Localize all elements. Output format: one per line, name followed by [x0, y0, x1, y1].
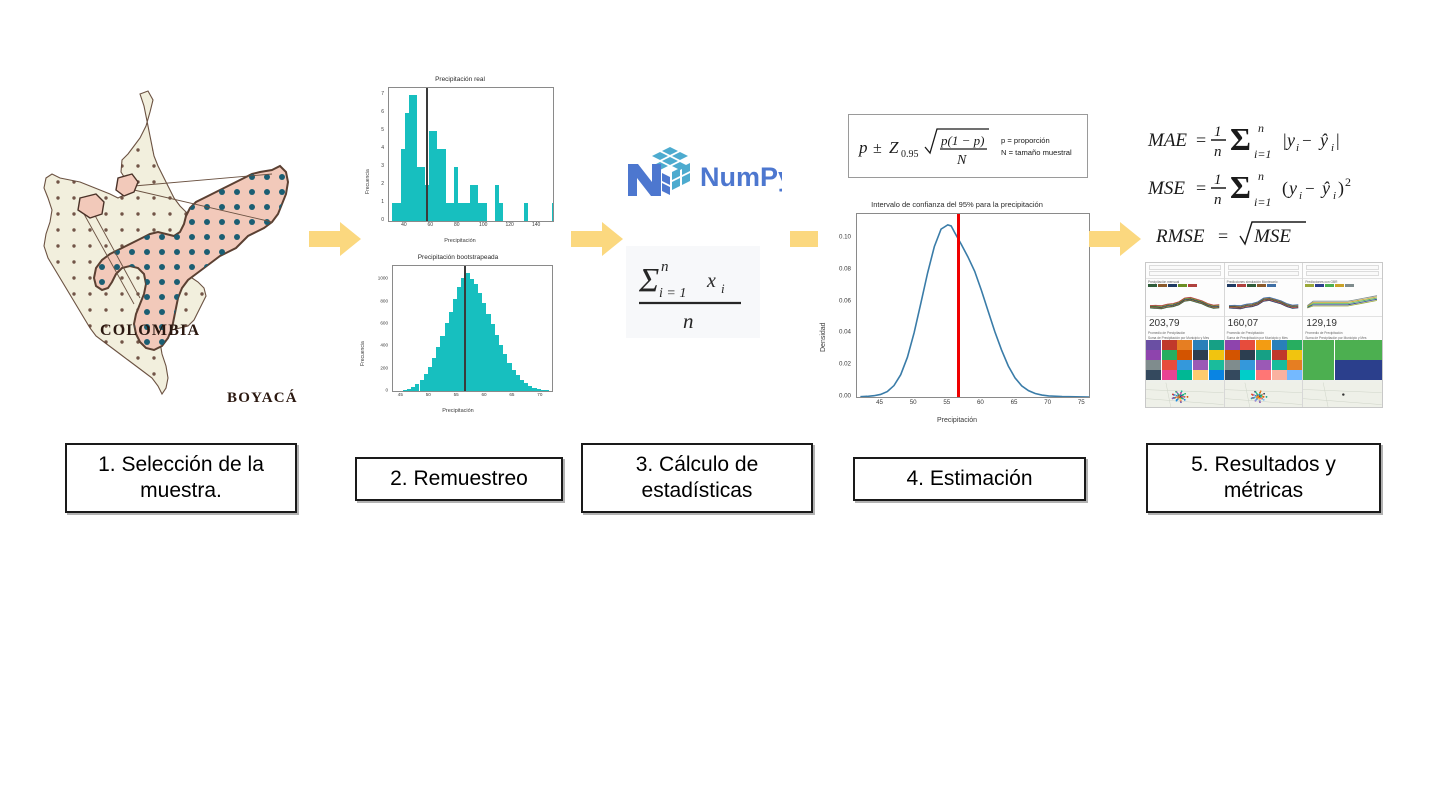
dashboard-map[interactable] [1303, 380, 1382, 408]
dashboard-filter[interactable] [1146, 263, 1224, 279]
filter-value[interactable] [1228, 271, 1300, 276]
map-label-boyaca: BOYACÁ [227, 390, 298, 407]
map-label-colombia: COLOMBIA [100, 322, 200, 340]
svg-text:=: = [1218, 226, 1228, 246]
mean-formula: Σ n i = 1 x i n [626, 246, 760, 338]
legend-swatch [1345, 284, 1354, 287]
svg-text:−: − [1302, 131, 1312, 150]
dashboard-column[interactable]: Predicciones con GBR129,19Promedio de Pr… [1303, 263, 1382, 408]
dashboard-map[interactable] [1225, 380, 1303, 408]
svg-text:MSE: MSE [1253, 226, 1291, 247]
legend-swatch [1158, 284, 1167, 287]
x-tick-label: 50 [910, 399, 917, 406]
svg-text:i=1: i=1 [1254, 147, 1271, 161]
legend-swatch [1305, 284, 1314, 287]
y-tick-label: 7 [362, 91, 384, 97]
numpy-cube-icon: NumPy [622, 146, 782, 202]
treemap-cell [1303, 340, 1334, 360]
y-tick-label: 0.02 [818, 361, 851, 368]
y-tick-label: 5 [362, 127, 384, 133]
treemap-cell [1209, 340, 1224, 350]
legend-swatch [1178, 284, 1187, 287]
svg-text:n: n [1214, 192, 1222, 208]
treemap-cell [1240, 360, 1255, 370]
x-tick-label: 60 [977, 399, 984, 406]
metrics-formulas-svg: MAE = 1 n Σ n i=1 |y i − ŷ i | M [1146, 116, 1390, 252]
treemap-cell [1256, 350, 1271, 360]
treemap-cell [1193, 370, 1208, 380]
legend-swatch [1335, 284, 1344, 287]
filter-dropdown[interactable] [1228, 265, 1300, 270]
step-label-1: 1. Selección de la muestra. [65, 443, 297, 513]
plot-area [856, 213, 1090, 398]
y-tick-label: 3 [362, 163, 384, 169]
svg-text:=: = [1196, 178, 1206, 198]
treemap-cell [1225, 360, 1240, 370]
x-tick-label: 140 [532, 222, 540, 228]
treemap-cell [1287, 360, 1302, 370]
svg-text:n: n [661, 259, 669, 275]
treemap-cell [1287, 340, 1302, 350]
chart-title: Precipitación real [362, 76, 558, 83]
numpy-wordmark: NumPy [700, 162, 782, 192]
svg-text:y: y [1287, 178, 1297, 198]
arrow-step4-to-step5 [1089, 222, 1141, 256]
svg-text:=: = [1196, 130, 1206, 150]
svg-text:−: − [1305, 179, 1315, 198]
x-tick-label: 80 [454, 222, 460, 228]
ci-formula-svg: p ± Z 0.95 p(1 − p) N p = proporción N =… [849, 115, 1087, 177]
svg-text:n: n [1258, 121, 1264, 135]
mean-formula-svg: Σ n i = 1 x i n [631, 249, 755, 335]
treemap-cell [1256, 370, 1271, 380]
svg-text:p: p [858, 138, 868, 157]
x-tick-label: 60 [481, 392, 486, 397]
treemap-cell [1272, 350, 1287, 360]
filter-value[interactable] [1149, 271, 1221, 276]
x-tick-label: 75 [1078, 399, 1085, 406]
svg-text:): ) [1338, 178, 1344, 199]
dashboard-column[interactable]: Predicciones simulación Montecarlo160,07… [1225, 263, 1304, 408]
map-svg [22, 82, 322, 407]
dashboard-treemap [1146, 340, 1224, 380]
treemap-cell [1209, 370, 1224, 380]
y-tick-label: 0.04 [818, 329, 851, 336]
slide-canvas: COLOMBIA BOYACÁ Precipitación real Frecu… [0, 0, 1431, 802]
legend-swatch [1227, 284, 1236, 287]
svg-text:|y: |y [1282, 130, 1295, 150]
confidence-interval-formula: p ± Z 0.95 p(1 − p) N p = proporción N =… [848, 114, 1088, 178]
y-tick-label: 1000 [358, 276, 388, 281]
ci-legend-p: p = proporción [1001, 136, 1050, 145]
y-tick-label: 200 [358, 365, 388, 370]
y-tick-label: 2 [362, 181, 384, 187]
treemap-cell [1287, 370, 1302, 380]
plot-area [388, 87, 554, 222]
treemap-cell [1162, 350, 1177, 360]
plot-area [392, 265, 553, 392]
x-tick-label: 55 [454, 392, 459, 397]
arrow-step1-to-step2 [309, 222, 361, 256]
treemap-cell [1272, 360, 1287, 370]
y-tick-label: 0.10 [818, 233, 851, 240]
svg-text:i = 1: i = 1 [659, 286, 686, 301]
svg-text:N: N [956, 153, 967, 168]
histogram-bar [552, 203, 554, 221]
treemap-cell [1146, 350, 1161, 360]
dashboard-line-chart [1225, 288, 1303, 316]
formula-mse: MSE = 1 n Σ n i=1 ( y i − ŷ i ) 2 [1147, 169, 1351, 209]
legend-swatch [1315, 284, 1324, 287]
histogram-bar [499, 203, 503, 221]
svg-text:p(1 − p): p(1 − p) [940, 133, 984, 148]
x-tick-label: 100 [479, 222, 487, 228]
svg-text:|: | [1336, 130, 1340, 150]
svg-text:Z: Z [889, 138, 899, 157]
colombia-boyaca-map: COLOMBIA BOYACÁ [22, 82, 322, 407]
y-tick-label: 400 [358, 343, 388, 348]
legend-swatch [1267, 284, 1276, 287]
numpy-cube-glyph [628, 147, 690, 196]
x-tick-label: 45 [876, 399, 883, 406]
svg-text:i: i [1331, 142, 1334, 154]
sigma-glyph: Σ [638, 262, 659, 299]
treemap-cell [1366, 340, 1382, 360]
dashboard-treemap [1303, 340, 1382, 380]
treemap-cell [1209, 350, 1224, 360]
legend-swatch [1188, 284, 1197, 287]
treemap-cell [1193, 340, 1208, 350]
chart-precipitacion-bootstrapeada: Precipitación bootstrapeada Frecuencia P… [358, 254, 558, 414]
chart-precipitacion-real: Precipitación real Frecuencia Precipitac… [362, 76, 558, 244]
histogram-bar [524, 203, 528, 221]
legend-swatch [1168, 284, 1177, 287]
treemap-cell [1146, 360, 1161, 370]
treemap-cell [1240, 340, 1255, 350]
svg-text:(: ( [1282, 178, 1288, 199]
dashboard-kpi-value: 203,79 [1146, 316, 1224, 330]
chart-xlabel: Precipitación [358, 408, 558, 414]
dashboard-kpi-value: 160,07 [1225, 316, 1303, 330]
treemap-cell [1256, 360, 1271, 370]
y-tick-label: 0.00 [818, 393, 851, 400]
arrow-step2-to-step3 [571, 222, 623, 256]
histogram-bar [483, 203, 487, 221]
treemap-cell [1272, 340, 1287, 350]
treemap-cell [1225, 370, 1240, 380]
svg-text:Σ: Σ [1230, 121, 1251, 157]
svg-text:1: 1 [1214, 124, 1222, 140]
svg-text:i: i [721, 281, 725, 296]
treemap-cell [1162, 340, 1177, 350]
treemap-cell [1335, 360, 1366, 380]
treemap-cell [1335, 340, 1366, 360]
dashboard-column[interactable]: Precipitación mensual203,79Promedio de P… [1146, 263, 1225, 408]
svg-text:i: i [1333, 190, 1336, 202]
y-tick-label: 600 [358, 321, 388, 326]
svg-text:n: n [1258, 169, 1264, 183]
y-tick-label: 4 [362, 145, 384, 151]
treemap-cell [1162, 360, 1177, 370]
y-tick-label: 0.08 [818, 265, 851, 272]
powerbi-dashboard-thumbnails[interactable]: Precipitación mensual203,79Promedio de P… [1145, 262, 1383, 408]
dashboard-line-chart [1146, 288, 1224, 316]
legend-swatch [1325, 284, 1334, 287]
dashboard-line-chart [1303, 288, 1382, 316]
step-label-3: 3. Cálculo de estadísticas [581, 443, 813, 513]
x-tick-label: 50 [426, 392, 431, 397]
chart-title: Precipitación bootstrapeada [358, 254, 558, 261]
svg-text:i: i [1299, 190, 1302, 202]
x-tick-label: 65 [509, 392, 514, 397]
chart-ylabel: Densidad [820, 322, 827, 352]
step-label-4: 4. Estimación [853, 457, 1086, 501]
svg-text:i: i [1296, 142, 1299, 154]
x-tick-label: 60 [428, 222, 434, 228]
svg-text:ŷ: ŷ [1318, 130, 1328, 150]
svg-text:ŷ: ŷ [1320, 178, 1330, 198]
x-tick-label: 120 [506, 222, 514, 228]
x-tick-label: 40 [401, 222, 407, 228]
svg-text:MAE: MAE [1147, 130, 1187, 151]
svg-text:0.95: 0.95 [901, 149, 919, 160]
filter-dropdown[interactable] [1149, 265, 1221, 270]
chart-title: Intervalo de confianza del 95% para la p… [818, 200, 1096, 209]
svg-text:n: n [683, 309, 694, 333]
formula-rmse: RMSE = MSE [1155, 222, 1306, 247]
chart-intervalo-confianza: Intervalo de confianza del 95% para la p… [818, 200, 1096, 424]
treemap-cell [1303, 360, 1334, 380]
x-tick-label: 65 [1011, 399, 1018, 406]
treemap-cell [1256, 340, 1271, 350]
treemap-cell [1287, 350, 1302, 360]
treemap-cell [1225, 350, 1240, 360]
dashboard-kpi-value: 129,19 [1303, 316, 1382, 330]
chart-xlabel: Precipitación [362, 238, 558, 244]
x-tick-label: 55 [943, 399, 950, 406]
filter-dropdown[interactable] [1306, 265, 1379, 270]
error-metrics-formulas: MAE = 1 n Σ n i=1 |y i − ŷ i | M [1146, 116, 1390, 252]
svg-text:Σ: Σ [1230, 169, 1251, 205]
y-tick-label: 0.06 [818, 297, 851, 304]
legend-swatch [1247, 284, 1256, 287]
dashboard-treemap [1225, 340, 1303, 380]
x-tick-label: 45 [398, 392, 403, 397]
density-curve [857, 214, 1089, 397]
chart-xlabel: Precipitación [818, 417, 1096, 424]
dashboard-map[interactable] [1146, 380, 1224, 408]
dashboard-filter[interactable] [1225, 263, 1303, 279]
treemap-cell [1146, 340, 1161, 350]
svg-text:x: x [706, 270, 716, 292]
svg-text:RMSE: RMSE [1155, 226, 1205, 247]
treemap-cell [1193, 360, 1208, 370]
x-tick-label: 70 [1044, 399, 1051, 406]
treemap-cell [1209, 360, 1224, 370]
treemap-cell [1177, 340, 1192, 350]
y-tick-label: 1 [362, 199, 384, 205]
formula-mae: MAE = 1 n Σ n i=1 |y i − ŷ i | [1147, 121, 1340, 161]
y-tick-label: 6 [362, 109, 384, 115]
treemap-cell [1193, 350, 1208, 360]
step-label-2: 2. Remuestreo [355, 457, 563, 501]
treemap-cell [1177, 360, 1192, 370]
y-tick-label: 0 [362, 217, 384, 223]
treemap-cell [1146, 370, 1161, 380]
treemap-cell [1272, 370, 1287, 380]
treemap-cell [1240, 370, 1255, 380]
ci-legend-n: N = tamaño muestral [1001, 148, 1072, 157]
y-tick-label: 0 [358, 388, 388, 393]
legend-swatch [1257, 284, 1266, 287]
treemap-cell [1177, 350, 1192, 360]
numpy-logo: NumPy [622, 146, 782, 202]
y-tick-label: 800 [358, 298, 388, 303]
svg-text:n: n [1214, 144, 1222, 160]
svg-text:i=1: i=1 [1254, 195, 1271, 209]
filter-value[interactable] [1306, 271, 1379, 276]
svg-text:MSE: MSE [1147, 178, 1185, 199]
svg-text:±: ± [873, 140, 882, 157]
x-tick-label: 70 [537, 392, 542, 397]
treemap-cell [1366, 360, 1382, 380]
treemap-cell [1240, 350, 1255, 360]
mean-vline [426, 88, 428, 221]
svg-text:1: 1 [1214, 172, 1222, 188]
step-label-5: 5. Resultados y métricas [1146, 443, 1381, 513]
svg-text:2: 2 [1345, 175, 1351, 189]
mean-vline [464, 266, 466, 391]
legend-swatch [1237, 284, 1246, 287]
confidence-bound-vline [957, 214, 960, 397]
treemap-cell [1162, 370, 1177, 380]
treemap-cell [1177, 370, 1192, 380]
dashboard-filter[interactable] [1303, 263, 1382, 279]
treemap-cell [1225, 340, 1240, 350]
legend-swatch [1148, 284, 1157, 287]
